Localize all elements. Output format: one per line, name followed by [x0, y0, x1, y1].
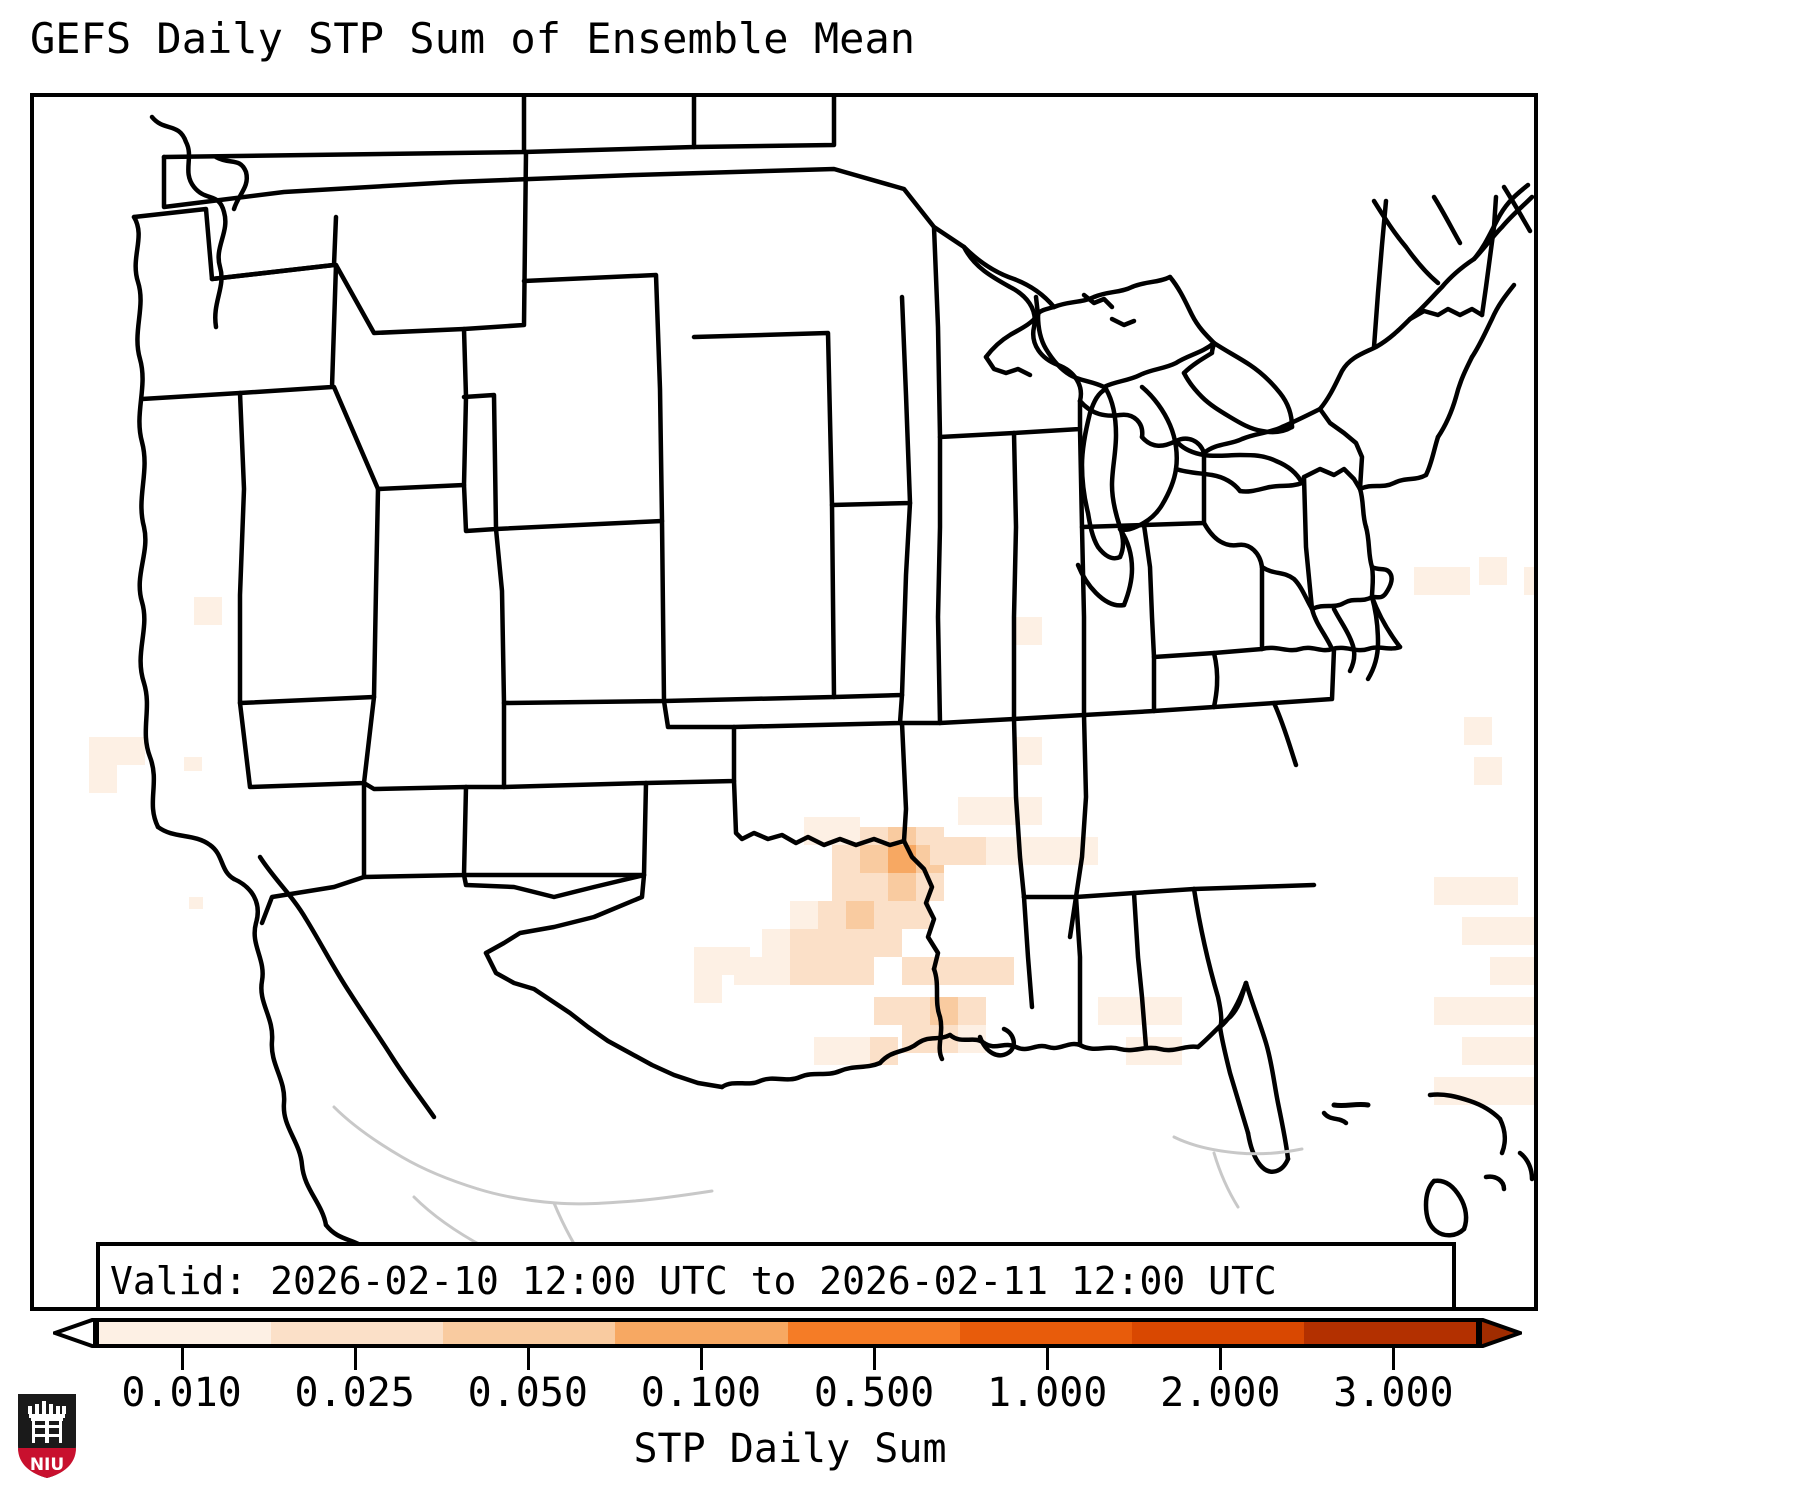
colorbar-tick-0 — [181, 1348, 184, 1370]
colorbar-over-arrow — [1480, 1318, 1522, 1348]
colorbar-tick-3 — [700, 1348, 703, 1370]
colorbar-tick-label-2: 0.050 — [468, 1370, 588, 1416]
colorbar: 0.0100.0250.0500.1000.5001.0002.0003.000… — [0, 1312, 1803, 1500]
colorbar-tick-labels: 0.0100.0250.0500.1000.5001.0002.0003.000 — [0, 1370, 1803, 1420]
colorbar-tick-4 — [873, 1348, 876, 1370]
colorbar-segment-3 — [615, 1322, 787, 1344]
colorbar-tick-1 — [354, 1348, 357, 1370]
colorbar-tick-label-6: 2.000 — [1160, 1370, 1280, 1416]
colorbar-under-arrow — [53, 1318, 95, 1348]
map-inner — [34, 97, 1534, 1307]
colorbar-tick-label-1: 0.025 — [294, 1370, 414, 1416]
niu-logo-text: NIU — [30, 1455, 64, 1475]
colorbar-tick-2 — [527, 1348, 530, 1370]
valid-time-line: Valid: 2026-02-10 12:00 UTC to 2026-02-1… — [110, 1254, 1452, 1308]
colorbar-gradient — [95, 1318, 1480, 1348]
colorbar-segment-2 — [443, 1322, 615, 1344]
colorbar-segment-4 — [788, 1322, 960, 1344]
colorbar-tick-label-5: 1.000 — [987, 1370, 1107, 1416]
run-time-line: Run: 2026-01-19 00:00 UTC — [110, 1308, 1452, 1311]
niu-logo: NIU — [16, 1392, 78, 1480]
colorbar-segment-7 — [1304, 1322, 1476, 1344]
colorbar-tick-6 — [1219, 1348, 1222, 1370]
colorbar-ticks — [95, 1348, 1480, 1370]
colorbar-tick-label-0: 0.010 — [121, 1370, 241, 1416]
map-plot-panel: Valid: 2026-02-10 12:00 UTC to 2026-02-1… — [30, 93, 1538, 1311]
map-geography-lines — [34, 97, 1534, 1307]
colorbar-axis-label: STP Daily Sum — [0, 1426, 1580, 1472]
colorbar-tick-7 — [1392, 1348, 1395, 1370]
colorbar-tick-label-4: 0.500 — [814, 1370, 934, 1416]
colorbar-tick-label-7: 3.000 — [1333, 1370, 1453, 1416]
info-box: Valid: 2026-02-10 12:00 UTC to 2026-02-1… — [96, 1242, 1456, 1311]
page-title: GEFS Daily STP Sum of Ensemble Mean — [30, 14, 915, 63]
colorbar-segment-6 — [1132, 1322, 1304, 1344]
colorbar-segment-5 — [960, 1322, 1132, 1344]
colorbar-segment-1 — [271, 1322, 443, 1344]
colorbar-tick-5 — [1046, 1348, 1049, 1370]
colorbar-segment-0 — [99, 1322, 271, 1344]
colorbar-tick-label-3: 0.100 — [641, 1370, 761, 1416]
